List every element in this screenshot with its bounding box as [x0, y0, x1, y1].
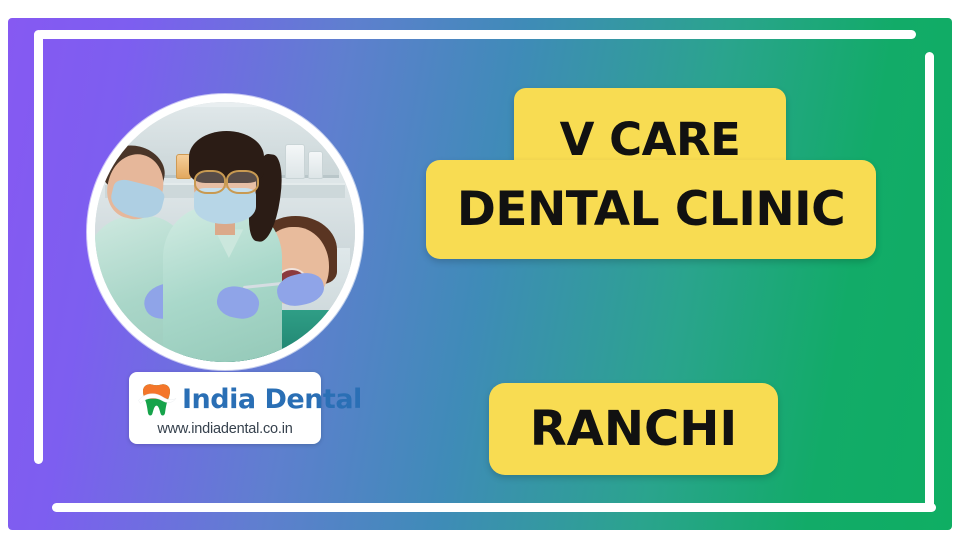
logo-brand-text: India Dental — [182, 386, 362, 413]
clinic-title-line2: DENTAL CLINIC — [457, 186, 845, 233]
frame-line-right — [925, 52, 934, 512]
clinic-title-line1: V CARE — [560, 117, 741, 162]
frame-line-left — [34, 30, 43, 464]
dental-clinic-poster: India Dental www.indiadental.co.in V CAR… — [0, 0, 960, 540]
clinic-scene-illustration — [95, 102, 355, 362]
dentist-eyeglasses — [194, 170, 259, 191]
title-plate-lower: DENTAL CLINIC — [426, 160, 876, 259]
city-label: RANCHI — [530, 405, 738, 453]
frame-line-bottom — [52, 503, 936, 512]
india-dental-logo-card[interactable]: India Dental www.indiadental.co.in — [129, 372, 321, 444]
supply-bottle — [308, 151, 323, 179]
tooth-tricolor-icon — [137, 382, 177, 418]
logo-url-text: www.indiadental.co.in — [137, 421, 313, 437]
clinic-photo — [95, 102, 355, 362]
clinic-photo-ring — [87, 94, 363, 370]
logo-row: India Dental — [137, 381, 313, 419]
supply-bottle — [285, 144, 305, 180]
frame-line-top — [36, 30, 916, 39]
city-plate: RANCHI — [489, 383, 778, 475]
